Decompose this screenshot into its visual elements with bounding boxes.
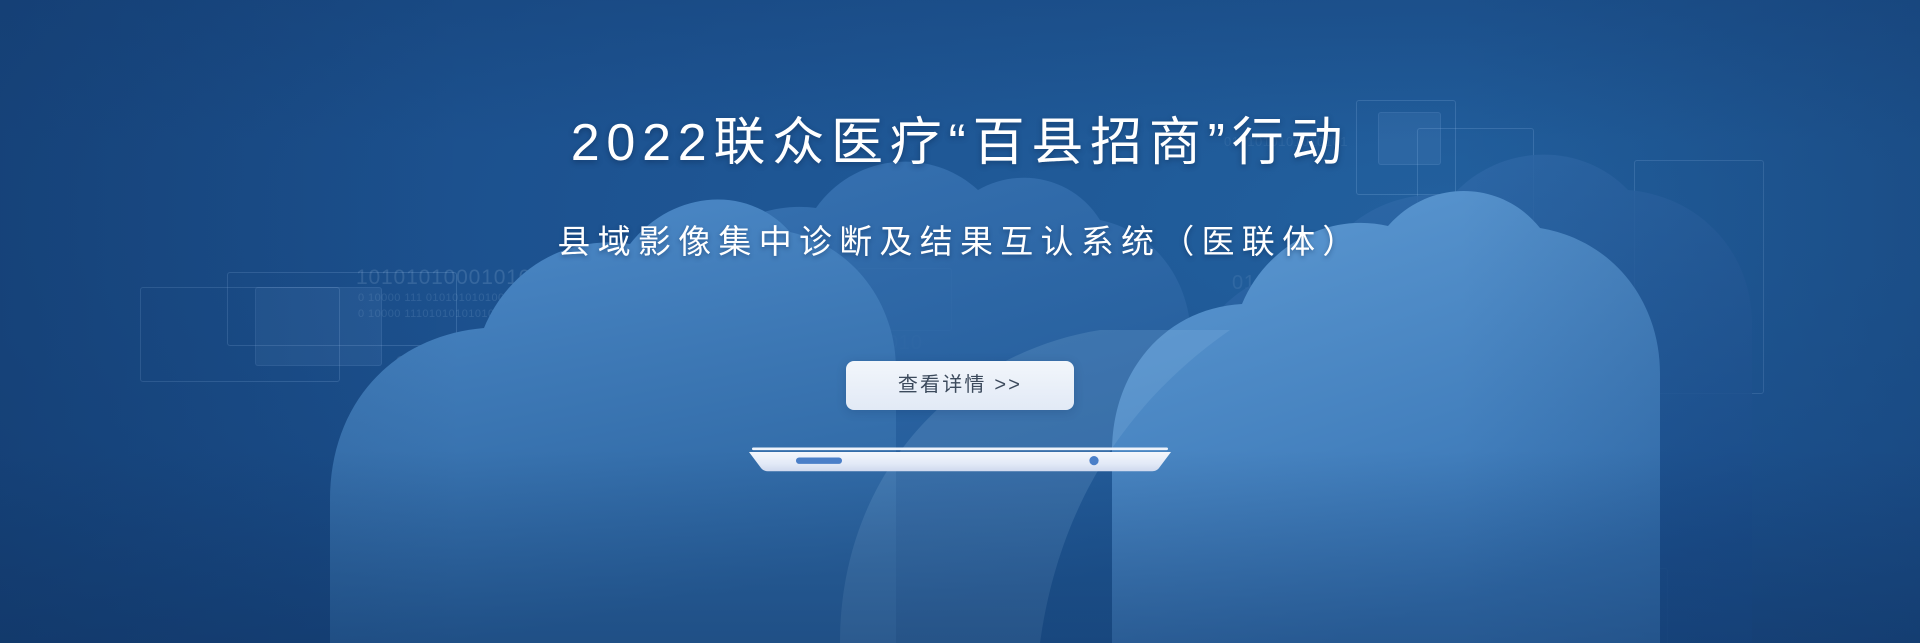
cta-container: 查看详情 >>: [0, 361, 1920, 410]
banner-root: 1010101000101010010101 0110 0 10000 111 …: [0, 0, 1920, 643]
page-subtitle: 县域影像集中诊断及结果互认系统（医联体）: [0, 215, 1920, 263]
laptop-camera-dot: [1089, 456, 1098, 465]
laptop-top-edge: [752, 448, 1168, 451]
page-title: 2022联众医疗“百县招商”行动: [0, 100, 1920, 175]
laptop-indicator-bar: [796, 458, 842, 464]
view-details-button[interactable]: 查看详情 >>: [846, 361, 1074, 410]
background-vignette: [0, 0, 1920, 643]
laptop-base-illustration: [748, 447, 1172, 473]
